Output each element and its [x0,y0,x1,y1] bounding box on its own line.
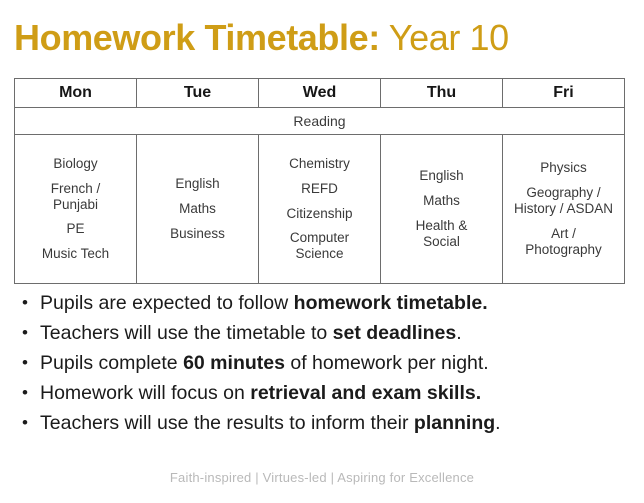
subject-item: Physics [505,160,622,176]
timetable-header: Mon Tue Wed Thu Fri [15,79,625,108]
subject-item: French / Punjabi [17,181,134,213]
subject-list-fri: Physics Geography / History / ASDAN Art … [505,160,622,258]
subject-item: Maths [383,193,500,209]
page-title-bold: Homework Timetable: [14,17,380,58]
bullet-text-bold: set deadlines [333,322,457,344]
subject-item: Chemistry [261,156,378,172]
list-item: Pupils complete 60 minutes of homework p… [18,348,638,378]
list-item: Teachers will use the results to inform … [18,408,638,438]
footer-strapline: Faith-inspired | Virtues-led | Aspiring … [0,470,644,485]
bullet-text-tail: of homework per night. [285,352,489,374]
day-header-thu: Thu [381,79,503,108]
page-title: Homework Timetable: Year 10 [14,12,630,64]
list-item: Teachers will use the timetable to set d… [18,318,638,348]
subject-list-wed: Chemistry REFD Citizenship Computer Scie… [261,156,378,263]
day-header-mon: Mon [15,79,137,108]
list-item: Homework will focus on retrieval and exa… [18,378,638,408]
subject-item: Geography / History / ASDAN [505,185,622,217]
subject-item: Business [139,226,256,242]
list-item: Pupils are expected to follow homework t… [18,288,638,318]
subject-item: Art / Photography [505,226,622,258]
day-header-wed: Wed [259,79,381,108]
subjects-cell-tue: English Maths Business [137,135,259,284]
bullet-text-bold: planning [414,412,495,434]
subjects-cell-mon: Biology French / Punjabi PE Music Tech [15,135,137,284]
bullet-text-plain: Pupils are expected to follow [40,292,294,314]
table-row-subjects: Biology French / Punjabi PE Music Tech E… [15,135,625,284]
subject-item: Health & Social [383,218,500,250]
bullet-text-tail: . [495,412,500,434]
day-header-tue: Tue [137,79,259,108]
subject-list-mon: Biology French / Punjabi PE Music Tech [17,156,134,263]
subject-list-thu: English Maths Health & Social [383,168,500,250]
subject-list-tue: English Maths Business [139,176,256,242]
bullet-text-bold: retrieval and exam skills. [250,382,481,404]
subjects-cell-wed: Chemistry REFD Citizenship Computer Scie… [259,135,381,284]
subject-item: English [139,176,256,192]
bullet-text-plain: Teachers will use the timetable to [40,322,333,344]
bullet-text-bold: homework timetable. [294,292,488,314]
day-header-fri: Fri [503,79,625,108]
subjects-cell-thu: English Maths Health & Social [381,135,503,284]
bullet-text-plain: Teachers will use the results to inform … [40,412,414,434]
subject-item: Citizenship [261,206,378,222]
subject-item: Computer Science [261,230,378,262]
bullet-text-bold: 60 minutes [183,352,285,374]
reading-cell: Reading [15,108,625,135]
subject-item: Music Tech [17,246,134,262]
subject-item: Biology [17,156,134,172]
timetable-body: Reading Biology French / Punjabi PE Musi… [15,108,625,284]
bullet-text-tail: . [456,322,461,344]
table-row-reading: Reading [15,108,625,135]
page-title-light: Year 10 [380,17,509,58]
homework-timetable: Mon Tue Wed Thu Fri Reading Biology Fren… [14,78,625,284]
table-row-days: Mon Tue Wed Thu Fri [15,79,625,108]
subject-item: Maths [139,201,256,217]
expectations-bullet-list: Pupils are expected to follow homework t… [18,288,638,438]
bullet-text-plain: Pupils complete [40,352,183,374]
subject-item: REFD [261,181,378,197]
subject-item: PE [17,221,134,237]
subject-item: English [383,168,500,184]
bullet-text-plain: Homework will focus on [40,382,250,404]
subjects-cell-fri: Physics Geography / History / ASDAN Art … [503,135,625,284]
